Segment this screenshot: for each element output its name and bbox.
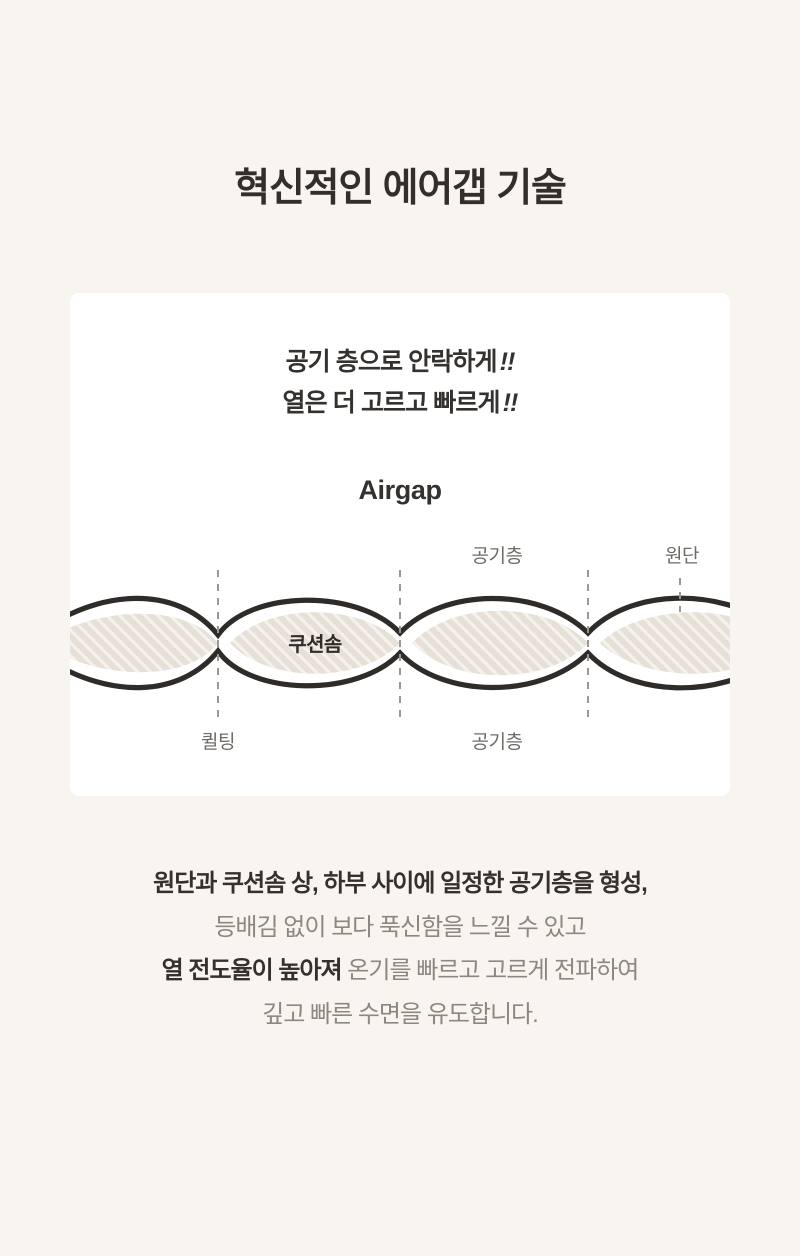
diagram-svg: 공기층 원단 퀼팅 공기층 쿠션솜 bbox=[70, 530, 730, 775]
diagram-label-quilting: 퀼팅 bbox=[201, 731, 235, 753]
diagram-label-airgap-bottom: 공기층 bbox=[472, 731, 523, 753]
cushion-pod-1 bbox=[70, 614, 218, 673]
description-line-3-strong: 열 전도율이 높아져 bbox=[162, 957, 342, 984]
diagram-label-airgap-top: 공기층 bbox=[472, 545, 523, 567]
description-line-2: 등배김 없이 보다 푹신함을 느낄 수 있고 bbox=[0, 906, 800, 950]
card-headline-line-2-text: 열은 더 고르고 빠르게 bbox=[283, 389, 500, 417]
description-line-3: 열 전도율이 높아져 온기를 빠르고 고르게 전파하여 bbox=[0, 949, 800, 993]
description-line-4: 깊고 빠른 수면을 유도합니다. bbox=[0, 993, 800, 1037]
page-title: 혁신적인 에어갭 기술 bbox=[0, 165, 800, 214]
card-headline-line-1-marks: !! bbox=[497, 348, 515, 376]
feature-card: 공기 층으로 안락하게!! 열은 더 고르고 빠르게!! Airgap bbox=[70, 293, 730, 796]
card-headline-line-1-text: 공기 층으로 안락하게 bbox=[286, 348, 497, 376]
cushion-pod-4 bbox=[600, 612, 730, 674]
card-headline-line-2-marks: !! bbox=[500, 389, 518, 417]
diagram-label-cushion: 쿠션솜 bbox=[288, 633, 342, 656]
airgap-brand-label: Airgap bbox=[70, 475, 730, 506]
feature-description: 원단과 쿠션솜 상, 하부 사이에 일정한 공기층을 형성, 등배김 없이 보다… bbox=[0, 862, 800, 1037]
airgap-cross-section-diagram: 공기층 원단 퀼팅 공기층 쿠션솜 bbox=[70, 530, 730, 775]
cushion-pod-3 bbox=[412, 611, 588, 676]
description-line-3-rest: 온기를 빠르고 고르게 전파하여 bbox=[347, 957, 638, 984]
card-headline: 공기 층으로 안락하게!! 열은 더 고르고 빠르게!! bbox=[70, 342, 730, 423]
description-line-1-strong: 원단과 쿠션솜 상, 하부 사이에 일정한 공기층을 형성, bbox=[153, 870, 647, 897]
card-headline-line-1: 공기 층으로 안락하게!! bbox=[70, 342, 730, 383]
airgap-feature-page: 혁신적인 에어갭 기술 공기 층으로 안락하게!! 열은 더 고르고 빠르게!!… bbox=[0, 0, 800, 1256]
description-line-1: 원단과 쿠션솜 상, 하부 사이에 일정한 공기층을 형성, bbox=[0, 862, 800, 906]
diagram-label-fabric: 원단 bbox=[665, 545, 699, 567]
card-headline-line-2: 열은 더 고르고 빠르게!! bbox=[70, 383, 730, 424]
